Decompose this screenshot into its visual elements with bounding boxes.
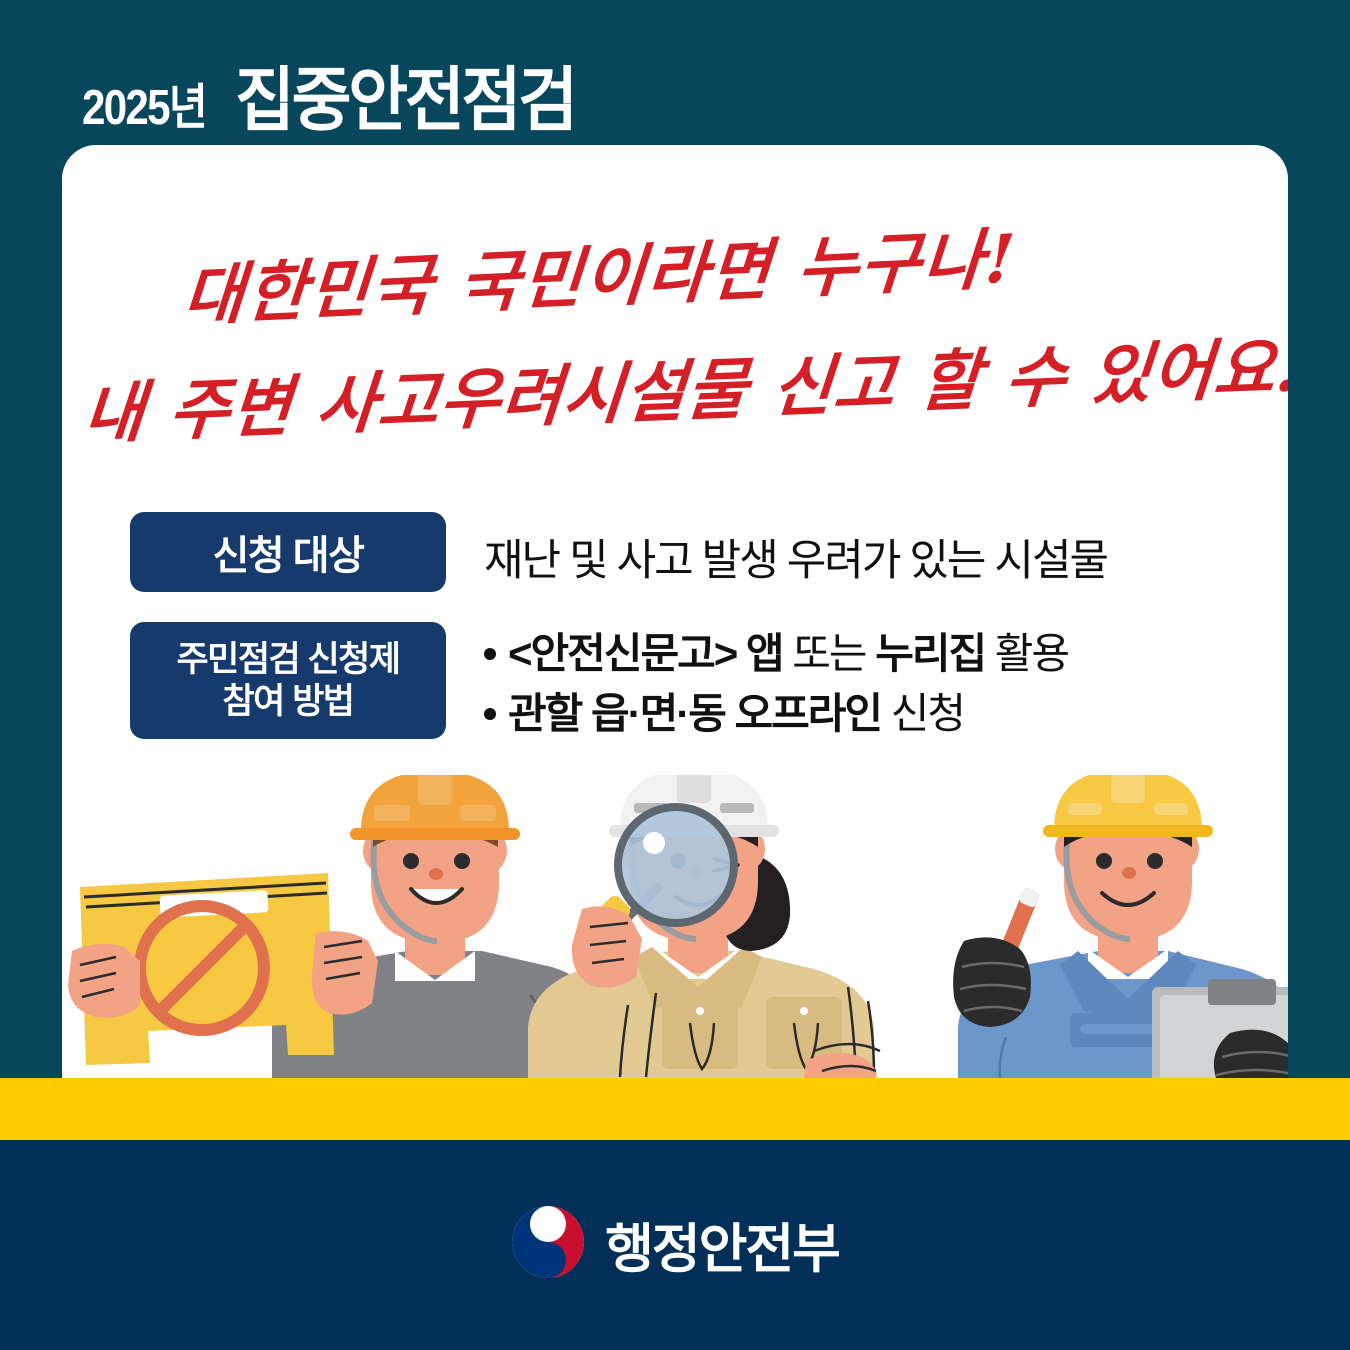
bullet-text: 신청	[881, 690, 964, 737]
bullet-text: 또는	[783, 630, 876, 677]
badge-application-target-label: 신청 대상	[213, 523, 364, 581]
bullet-emphasis: <안전신문고> 앱	[508, 630, 783, 677]
worker-illustration	[62, 775, 1288, 1078]
title-year: 2025년	[82, 68, 206, 139]
participation-method-list: <안전신문고> 앱 또는 누리집 활용관할 읍·면·동 오프라인 신청	[484, 622, 1068, 743]
bullet-emphasis: 관할 읍·면·동 오프라인	[508, 690, 881, 737]
figure-inspector-with-clipboard	[953, 775, 1288, 1078]
badge-application-target: 신청 대상	[130, 512, 446, 592]
figure-worker-with-warning-sign	[68, 775, 602, 1078]
bullet-dot-icon	[484, 708, 496, 720]
accent-band	[0, 1078, 1350, 1140]
content-card: 대한민국 국민이라면 누구나! 내 주변 사고우려시설물 신고 할 수 있어요.…	[62, 145, 1288, 1078]
badge-participation-method: 주민점검 신청제 참여 방법	[130, 622, 446, 739]
info-block: 신청 대상 재난 및 사고 발생 우려가 있는 시설물 주민점검 신청제 참여 …	[130, 512, 1260, 743]
headline-line-2: 내 주변 사고우려시설물 신고 할 수 있어요.	[80, 314, 1288, 457]
method-bullet-1: <안전신문고> 앱 또는 누리집 활용	[484, 624, 1068, 684]
info-row-target: 신청 대상 재난 및 사고 발생 우려가 있는 시설물	[130, 512, 1260, 592]
page-title: 2025년 집중안전점검	[82, 44, 601, 118]
bullet-dot-icon	[484, 648, 496, 660]
title-main: 집중안전점검	[235, 44, 575, 145]
headline-line-1: 대한민국 국민이라면 누구나!	[180, 205, 1020, 339]
method-bullet-2: 관할 읍·면·동 오프라인 신청	[484, 684, 1068, 744]
row-spacer	[130, 592, 1260, 622]
figure-inspector-with-magnifier	[528, 775, 880, 1078]
info-row-method: 주민점검 신청제 참여 방법 <안전신문고> 앱 또는 누리집 활용관할 읍·면…	[130, 622, 1260, 743]
badge-participation-method-line2: 참여 방법	[222, 681, 353, 722]
safety-inspection-poster: 2025년 집중안전점검 대한민국 국민이라면 누구나! 내 주변 사고우려시설…	[0, 0, 1350, 1350]
bullet-text: 활용	[985, 630, 1068, 677]
taegeuk-logo-icon	[511, 1205, 585, 1284]
footer-logo: 행정안전부	[0, 1205, 1350, 1284]
ministry-name: 행정안전부	[605, 1207, 839, 1283]
bullet-emphasis: 누리집	[875, 630, 985, 677]
application-target-text: 재난 및 사고 발생 우려가 있는 시설물	[484, 512, 1107, 588]
badge-participation-method-line1: 주민점검 신청제	[176, 639, 399, 680]
